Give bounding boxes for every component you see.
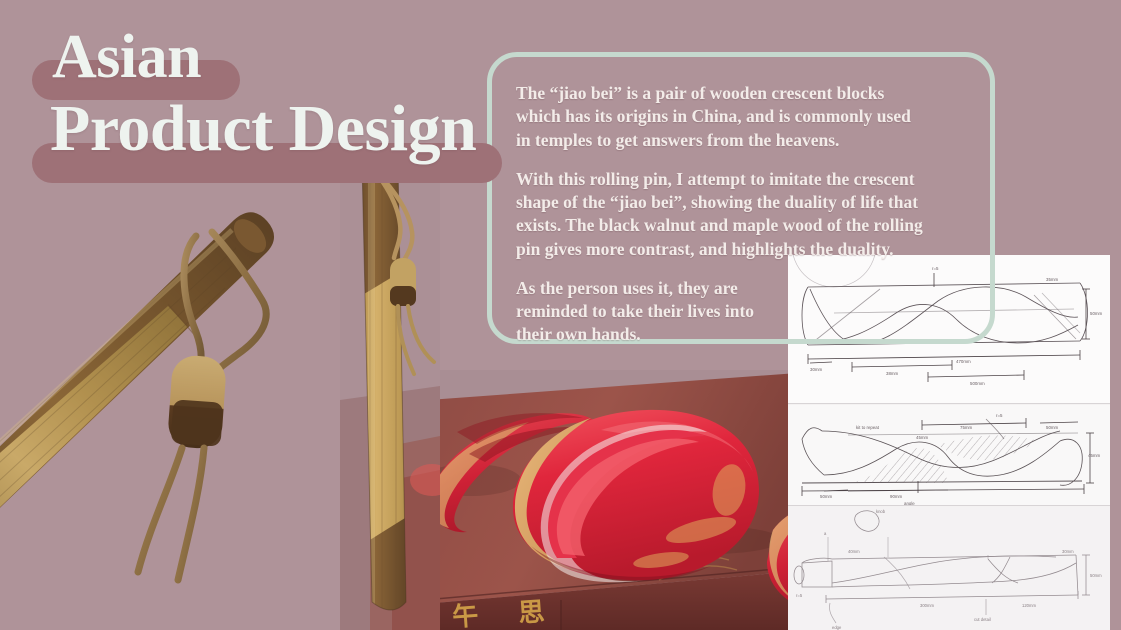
svg-text:75mm: 75mm <box>960 425 973 430</box>
svg-text:120mm: 120mm <box>1022 603 1036 608</box>
svg-text:300mm: 300mm <box>920 603 934 608</box>
svg-text:50mm: 50mm <box>1046 425 1059 430</box>
svg-text:45mm: 45mm <box>916 435 929 440</box>
svg-text:38mm: 38mm <box>886 371 899 376</box>
svg-text:30mm: 30mm <box>1062 549 1074 554</box>
svg-text:470mm: 470mm <box>956 359 971 364</box>
svg-text:午: 午 <box>451 600 479 630</box>
svg-text:knob: knob <box>876 509 886 514</box>
sketch-construction-faint: 40mm 300mm 120mm 50mm 30mm cut detail ed… <box>788 507 1110 630</box>
description-paragraph-3: As the person uses it, they are reminded… <box>516 277 766 347</box>
svg-text:r=5: r=5 <box>932 266 939 271</box>
svg-text:50mm: 50mm <box>820 494 833 499</box>
sketch-divider-2 <box>788 505 1110 506</box>
photo-jiao-bei-blocks: 午 思 <box>411 370 811 630</box>
svg-text:35mm: 35mm <box>1046 277 1059 282</box>
photo-left-rolling-pin <box>0 196 340 630</box>
photo-center-rolling-pin <box>340 150 440 630</box>
svg-text:edge: edge <box>832 625 842 630</box>
svg-text:kit to repeat: kit to repeat <box>856 425 880 430</box>
svg-text:50mm: 50mm <box>1090 311 1103 316</box>
svg-text:45mm: 45mm <box>1088 453 1101 458</box>
svg-text:40mm: 40mm <box>848 549 860 554</box>
svg-text:cut detail: cut detail <box>974 617 991 622</box>
svg-text:90mm: 90mm <box>890 494 903 499</box>
page-title-line-2: Product Design <box>50 96 476 162</box>
svg-text:50mm: 50mm <box>1090 573 1102 578</box>
svg-text:30mm: 30mm <box>810 367 823 372</box>
svg-text:思: 思 <box>517 597 545 628</box>
description-paragraph-2: With this rolling pin, I attempt to imit… <box>516 168 926 261</box>
svg-text:500mm: 500mm <box>970 381 985 386</box>
sketch-hatched-section: 50mm 90mm angle 75mm 50mm r=5 45mm 45mm … <box>788 405 1110 505</box>
svg-text:r=5: r=5 <box>996 413 1003 418</box>
page-title-line-1: Asian <box>52 26 201 88</box>
svg-text:r=5: r=5 <box>796 593 803 598</box>
description-paragraph-1: The “jiao bei” is a pair of wooden cresc… <box>516 82 926 152</box>
poster-canvas: 午 思 <box>0 0 1121 630</box>
sketch-divider-1 <box>788 403 1110 404</box>
description-card: The “jiao bei” is a pair of wooden cresc… <box>496 60 926 355</box>
